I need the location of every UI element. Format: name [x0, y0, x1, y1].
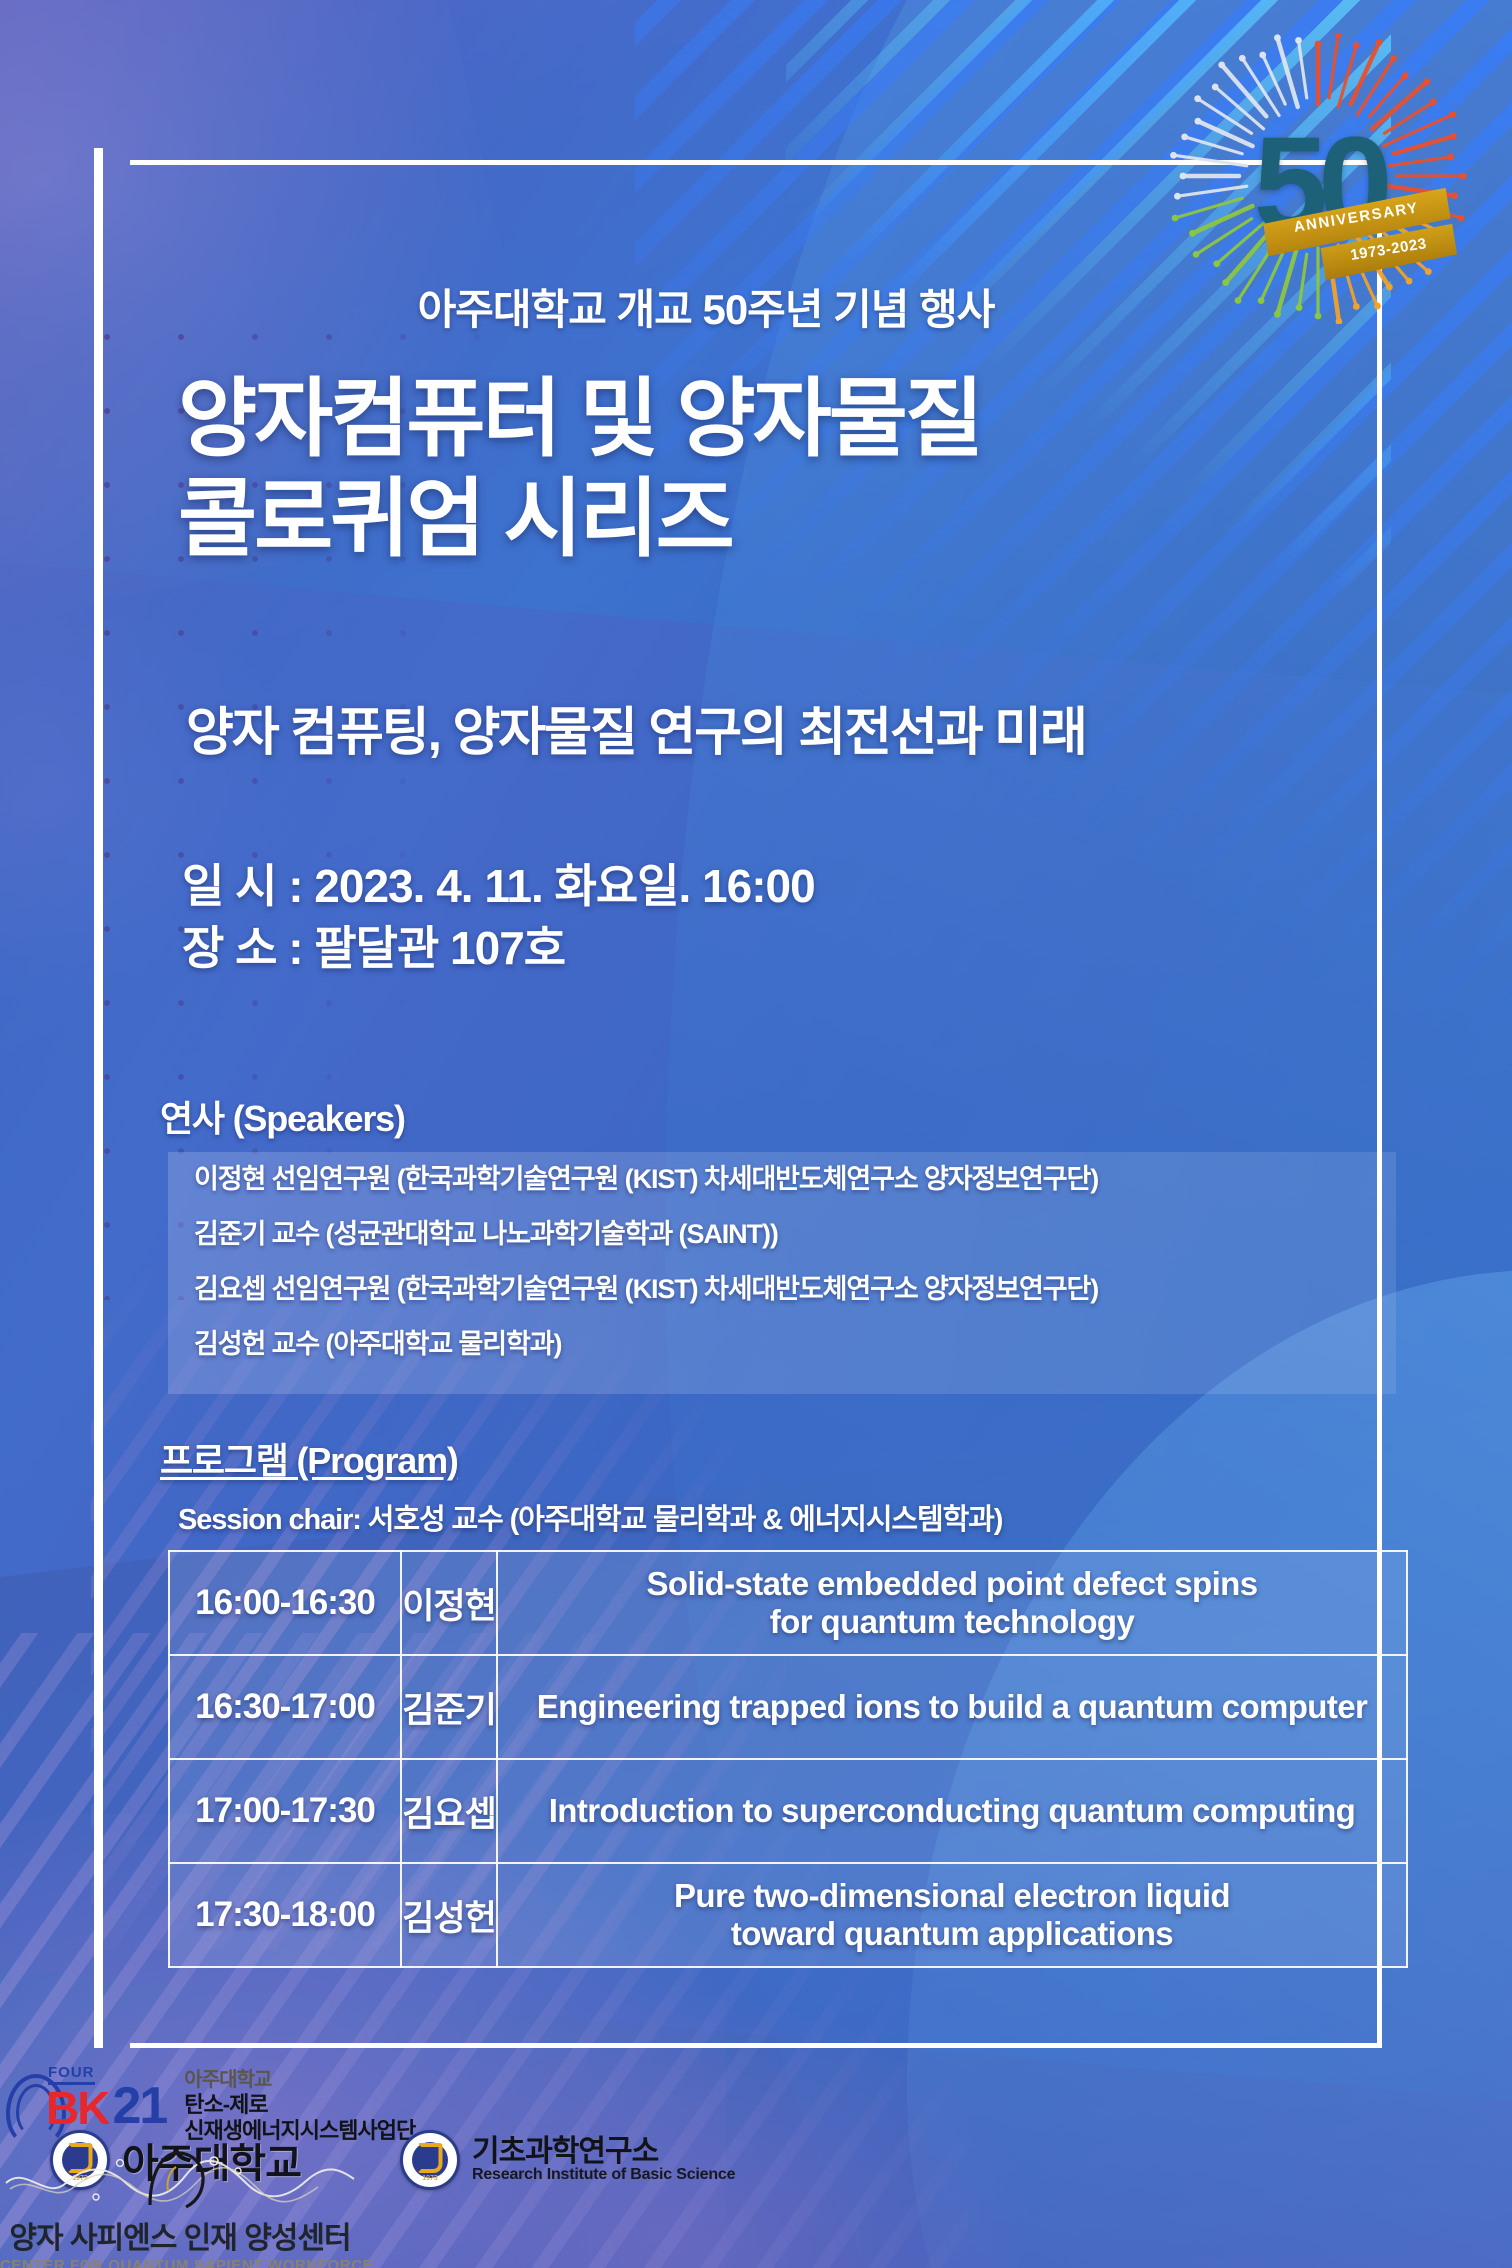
row-speaker: 김준기 — [401, 1655, 497, 1759]
table-row: 17:30-18:00 김성헌 Pure two-dimensional ele… — [169, 1863, 1407, 1967]
eyebrow-text: 아주대학교 개교 50주년 기념 행사 — [0, 276, 1512, 337]
row-speaker: 김요셉 — [401, 1759, 497, 1863]
logo-center-quantum-sapient-workforce: 양자 사피엔스 인재 양성센터 CENTER FOR QUANTUM SAPIE… — [0, 2145, 360, 2268]
quantum-wave-icon — [0, 2145, 360, 2211]
ajou-seal-icon: 1973 — [400, 2130, 460, 2190]
program-heading: 프로그램 (Program) — [160, 1432, 458, 1484]
seal-year: 1973 — [422, 2175, 438, 2182]
poster-content: 아주대학교 개교 50주년 기념 행사 양자컴퓨터 및 양자물질 콜로퀴엄 시리… — [0, 0, 1512, 2268]
ribs-label-stack: 기초과학연구소 Research Institute of Basic Scie… — [472, 2136, 735, 2184]
row-time: 17:30-18:00 — [169, 1863, 401, 1967]
bk21-bk-text: BK — [46, 2089, 108, 2128]
session-chair: Session chair: 서호성 교수 (아주대학교 물리학과 & 에너지시… — [178, 1496, 1428, 1538]
event-datetime: 일 시 : 2023. 4. 11. 화요일. 16:00 — [182, 856, 1182, 918]
event-meta: 일 시 : 2023. 4. 11. 화요일. 16:00 장 소 : 팔달관 … — [182, 856, 1182, 979]
row-title: Introduction to superconducting quantum … — [497, 1759, 1407, 1863]
bk21-line1: 아주대학교 — [184, 2068, 415, 2092]
speaker-item: 김성헌 교수 (아주대학교 물리학과) — [194, 1331, 1370, 1358]
row-title-line1: Solid-state embedded point defect spins — [508, 1565, 1396, 1603]
speakers-heading: 연사 (Speakers) — [160, 1090, 405, 1142]
speakers-list: 이정현 선임연구원 (한국과학기술연구원 (KIST) 차세대반도체연구소 양자… — [168, 1152, 1396, 1394]
ribs-label-ko: 기초과학연구소 — [472, 2136, 735, 2168]
bk21-21-text: 21 — [112, 2084, 166, 2128]
speaker-item: 이정현 선임연구원 (한국과학기술연구원 (KIST) 차세대반도체연구소 양자… — [194, 1166, 1370, 1193]
event-location: 장 소 : 팔달관 107호 — [182, 918, 1182, 980]
row-title-line1: Pure two-dimensional electron liquid — [508, 1877, 1396, 1915]
bk21-wordmark: BK 21 FOUR — [46, 2084, 166, 2128]
row-time: 16:30-17:00 — [169, 1655, 401, 1759]
row-title-line2: toward quantum applications — [508, 1915, 1396, 1953]
table-row: 16:30-17:00 김준기 Engineering trapped ions… — [169, 1655, 1407, 1759]
page-title-line1: 양자컴퓨터 및 양자물질 — [178, 371, 981, 467]
poster-root: 50 ANNIVERSARY 1973-2023 아주대학교 개교 50주년 기… — [0, 0, 1512, 2268]
footer-logos: 1973 아주대학교 1973 기초과학연구소 Research Institu… — [0, 2068, 1512, 2268]
row-speaker: 김성헌 — [401, 1863, 497, 1967]
speaker-item: 김요셉 선임연구원 (한국과학기술연구원 (KIST) 차세대반도체연구소 양자… — [194, 1276, 1370, 1303]
cqsw-label-ko: 양자 사피엔스 인재 양성센터 — [0, 2213, 360, 2257]
bk21-four-text: FOUR — [48, 2064, 95, 2085]
row-title: Solid-state embedded point defect spins … — [497, 1551, 1407, 1655]
table-row: 17:00-17:30 김요셉 Introduction to supercon… — [169, 1759, 1407, 1863]
page-subtitle: 양자 컴퓨팅, 양자물질 연구의 최전선과 미래 — [186, 690, 1436, 765]
program-table: 16:00-16:30 이정현 Solid-state embedded poi… — [168, 1550, 1408, 1968]
row-title: Engineering trapped ions to build a quan… — [497, 1655, 1407, 1759]
page-title: 양자컴퓨터 및 양자물질 콜로퀴엄 시리즈 — [178, 370, 1378, 570]
row-title-line2: for quantum technology — [508, 1603, 1396, 1641]
row-speaker: 이정현 — [401, 1551, 497, 1655]
row-title: Pure two-dimensional electron liquid tow… — [497, 1863, 1407, 1967]
ribs-label-en: Research Institute of Basic Science — [472, 2167, 735, 2184]
logo-research-institute-basic-science: 1973 기초과학연구소 Research Institute of Basic… — [400, 2130, 735, 2190]
page-title-line2: 콜로퀴엄 시리즈 — [178, 470, 1378, 570]
speaker-item: 김준기 교수 (성균관대학교 나노과학기술학과 (SAINT)) — [194, 1221, 1370, 1248]
bk21-line2: 탄소-제로 — [184, 2092, 415, 2118]
row-title-line1: Engineering trapped ions to build a quan… — [508, 1688, 1396, 1726]
table-row: 16:00-16:30 이정현 Solid-state embedded poi… — [169, 1551, 1407, 1655]
wave-profile-icon — [0, 2145, 360, 2211]
row-title-line1: Introduction to superconducting quantum … — [508, 1792, 1396, 1830]
row-time: 16:00-16:30 — [169, 1551, 401, 1655]
cqsw-label-en: CENTER FOR QUANTUM SAPIENT WORKFORCE — [0, 2257, 360, 2268]
row-time: 17:00-17:30 — [169, 1759, 401, 1863]
